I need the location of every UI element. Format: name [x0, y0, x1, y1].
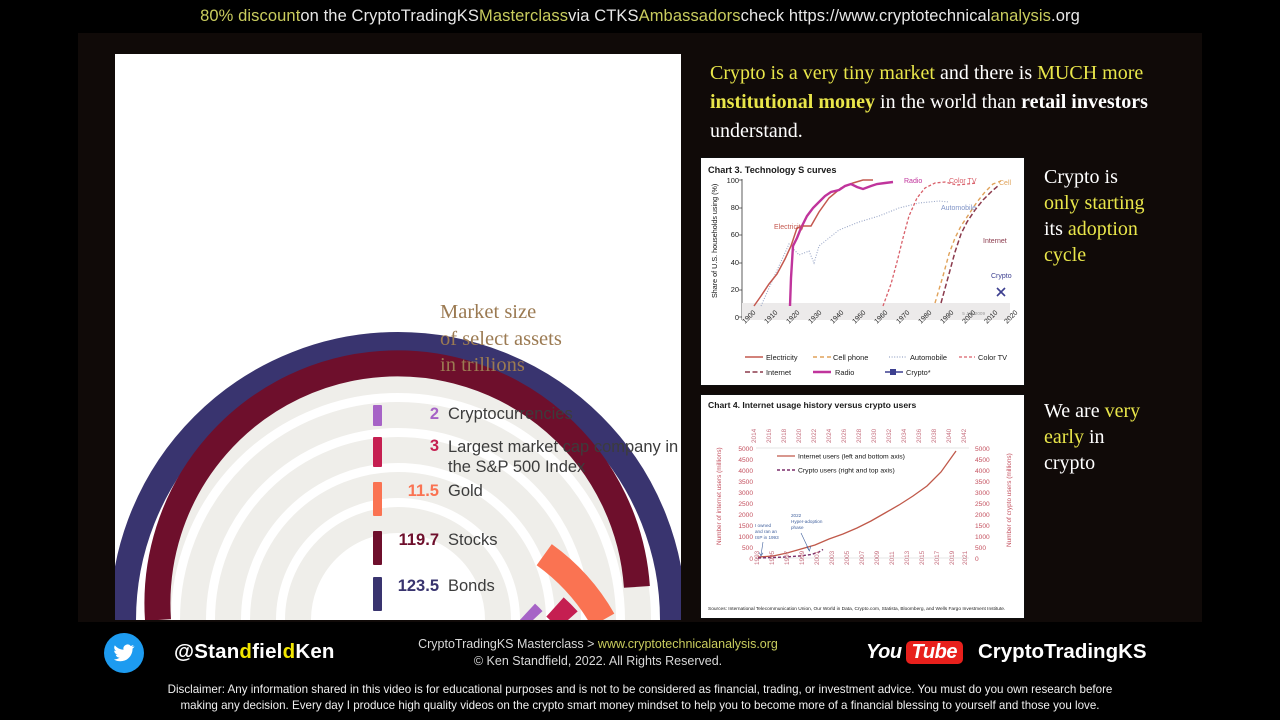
svg-text:2013: 2013 — [904, 550, 911, 565]
youtube-logo[interactable]: You Tube — [866, 641, 963, 664]
arc-title-line-3: in trillions — [440, 352, 670, 379]
ticker-discount: 80% discount — [200, 7, 300, 26]
arc-cryptocurrencies — [526, 613, 533, 620]
legend-label-bonds: Bonds — [448, 577, 495, 596]
svg-text:2000: 2000 — [738, 512, 753, 519]
handle-part-b: d — [239, 640, 252, 663]
disclaimer-line-2: making any decision. Every day I produce… — [6, 698, 1274, 714]
disclaimer-line-1: Disclaimer: Any information shared in th… — [6, 682, 1274, 698]
slide-canvas: Market size of select assets in trillion… — [78, 33, 1202, 684]
svg-text:500: 500 — [742, 545, 753, 552]
svg-text:0: 0 — [749, 556, 753, 563]
headline-part-3: MUCH — [1037, 62, 1097, 84]
svg-text:2024: 2024 — [826, 428, 833, 443]
svg-text:2030: 2030 — [871, 428, 878, 443]
svg-text:2016: 2016 — [766, 428, 773, 443]
chart3-legend-internet: Internet — [766, 368, 791, 377]
svg-text:2034: 2034 — [901, 428, 908, 443]
chart3-legend-electricity: Electricity — [766, 353, 798, 362]
handle-part-c: fiel — [252, 640, 282, 663]
credit-block: CryptoTradingKS Masterclass > www.crypto… — [368, 636, 828, 669]
legend-swatch-bonds — [373, 577, 382, 611]
chart3-label-automobile: Automobile — [941, 205, 976, 212]
svg-text:2026: 2026 — [841, 428, 848, 443]
svg-text:4500: 4500 — [738, 457, 753, 464]
svg-text:4000: 4000 — [738, 468, 753, 475]
legend-value-largest-company: 3 — [393, 437, 439, 456]
chart3-label-cell: Cell — [999, 180, 1012, 187]
handle-part-e: Ken — [295, 640, 334, 663]
chart3-label-color-tv: Color TV — [949, 178, 977, 185]
chart4-legend-internet: Internet users (left and bottom axis) — [798, 454, 905, 461]
svg-text:2005: 2005 — [844, 550, 851, 565]
side1-line-3: its adoption — [1044, 216, 1202, 242]
chart3-legend-radio: Radio — [835, 368, 854, 377]
chart3-legend-color-tv: Color TV — [978, 353, 1007, 362]
legend-item-stocks: 119.7 Stocks — [373, 531, 498, 565]
legend-label-cryptocurrencies: Cryptocurrencies — [448, 405, 573, 424]
youtube-tube-badge: Tube — [906, 641, 963, 664]
chart3-legend-cell-phone: Cell phone — [833, 353, 868, 362]
arc-title-line-1: Market size — [440, 299, 670, 326]
svg-text:2017: 2017 — [934, 550, 941, 565]
side2-line-1b: very — [1105, 400, 1141, 422]
legend-swatch-largest-company — [373, 437, 382, 467]
headline-part-8: understand. — [710, 120, 803, 142]
chart4-ylabel-left: Number of internet users (millions) — [716, 447, 723, 545]
headline-part-7: retail investors — [1021, 91, 1148, 113]
side2-line-2b: in — [1084, 426, 1105, 448]
chart3-label-radio: Radio — [904, 178, 922, 185]
ticker-masterclass: Masterclass — [479, 7, 568, 26]
headline-part-2: and there is — [935, 62, 1037, 84]
chart4-annotation-hyper-line2: Hyper-adoption — [791, 519, 823, 524]
svg-text:2011: 2011 — [889, 551, 896, 565]
chart3-label-crypto: Crypto — [991, 273, 1012, 280]
chart4-annotation-isp-line2: and ran an — [755, 529, 777, 534]
svg-text:2018: 2018 — [781, 428, 788, 443]
handle-part-d: d — [283, 640, 296, 663]
svg-text:3000: 3000 — [975, 490, 990, 497]
chart4-annotation-hyper-line3: phase — [791, 525, 804, 530]
chart4-title: Chart 4. Internet usage history versus c… — [708, 400, 916, 410]
handle-part-a: @Stan — [174, 640, 239, 663]
side2-line-3: crypto — [1044, 450, 1202, 476]
credit-line-2: © Ken Standfield, 2022. All Rights Reser… — [368, 653, 828, 670]
side1-line-3a: its — [1044, 218, 1068, 240]
chart3-technology-s-curves: Chart 3. Technology S curves 100 80 60 4… — [700, 157, 1025, 386]
chart4-annotation-hyper-line1: 2022 — [791, 513, 802, 518]
chart4-legend-crypto: Crypto users (right and top axis) — [798, 468, 895, 475]
chart3-ylabel: Share of U.S. households using (%) — [710, 184, 719, 298]
svg-text:1993: 1993 — [754, 550, 761, 565]
headline-part-1: Crypto is a very tiny market — [710, 62, 935, 84]
svg-text:5000: 5000 — [738, 446, 753, 453]
svg-text:4500: 4500 — [975, 457, 990, 464]
legend-value-stocks: 119.7 — [393, 531, 439, 550]
side1-line-3b: adoption — [1068, 218, 1138, 240]
side1-line-4: cycle — [1044, 242, 1202, 268]
svg-text:1500: 1500 — [738, 523, 753, 530]
svg-text:0: 0 — [735, 313, 739, 322]
svg-text:2500: 2500 — [738, 501, 753, 508]
svg-text:1995: 1995 — [769, 550, 776, 565]
credit-line-1: CryptoTradingKS Masterclass > www.crypto… — [368, 636, 828, 653]
headline-part-5: institutional money — [710, 91, 875, 113]
svg-text:1000: 1000 — [975, 534, 990, 541]
ticker-ambassadors: Ambassadors — [639, 7, 741, 26]
disclaimer-bar: Disclaimer: Any information shared in th… — [0, 678, 1280, 720]
svg-text:2014: 2014 — [751, 428, 758, 443]
market-size-arc-chart: Market size of select assets in trillion… — [115, 54, 681, 620]
svg-text:100: 100 — [727, 176, 739, 185]
youtube-you-text: You — [866, 641, 902, 664]
side1-line-1: Crypto is — [1044, 164, 1202, 190]
side2-line-1: We are very — [1044, 398, 1202, 424]
side2-line-1a: We are — [1044, 400, 1105, 422]
side1-line-2: only starting — [1044, 190, 1202, 216]
svg-text:2003: 2003 — [829, 550, 836, 565]
svg-text:2015: 2015 — [919, 550, 926, 565]
ticker-url-part-3: .org — [1051, 7, 1080, 26]
arc-chart-title: Market size of select assets in trillion… — [440, 299, 670, 379]
svg-text:2007: 2007 — [859, 550, 866, 565]
svg-text:1997: 1997 — [784, 550, 791, 565]
twitter-handle[interactable]: @StandfieldKen — [174, 640, 335, 664]
side2-line-2: early in — [1044, 424, 1202, 450]
legend-label-stocks: Stocks — [448, 531, 498, 550]
credit-website-link[interactable]: www.cryptotechnicalanalysis.org — [598, 637, 778, 651]
svg-text:1999: 1999 — [799, 550, 806, 565]
svg-text:3000: 3000 — [738, 490, 753, 497]
twitter-icon[interactable] — [104, 633, 144, 673]
legend-value-gold: 11.5 — [393, 482, 439, 501]
svg-text:2042: 2042 — [961, 428, 968, 443]
svg-text:2038: 2038 — [931, 428, 938, 443]
chart3-legend-automobile: Automobile — [910, 353, 947, 362]
svg-text:60: 60 — [731, 230, 739, 239]
chart4-ylabel-right: Number of crypto users (millions) — [1006, 453, 1013, 547]
legend-item-gold: 11.5 Gold — [373, 482, 483, 516]
chart4-annotation-isp-line3: ISP in 1993 — [755, 535, 779, 540]
svg-text:5000: 5000 — [975, 446, 990, 453]
legend-value-bonds: 123.5 — [393, 577, 439, 596]
chart3-label-internet: Internet — [983, 238, 1007, 245]
chart3-legend-crypto: Crypto* — [906, 368, 931, 377]
svg-text:2009: 2009 — [874, 550, 881, 565]
legend-swatch-cryptocurrencies — [373, 405, 382, 426]
svg-text:2020: 2020 — [796, 428, 803, 443]
svg-text:500: 500 — [975, 545, 986, 552]
svg-text:2001: 2001 — [814, 550, 821, 565]
ticker-text-1: on the CryptoTradingKS — [300, 7, 479, 26]
svg-text:2028: 2028 — [856, 428, 863, 443]
side2-line-2a: early — [1044, 426, 1084, 448]
legend-value-cryptocurrencies: 2 — [393, 405, 439, 424]
side-note-adoption: Crypto is only starting its adoption cyc… — [1044, 164, 1202, 268]
svg-text:2019: 2019 — [949, 550, 956, 565]
ticker-url-part-2: analysis — [991, 7, 1051, 26]
legend-item-bonds: 123.5 Bonds — [373, 577, 495, 611]
svg-text:1000: 1000 — [738, 534, 753, 541]
svg-text:2500: 2500 — [975, 501, 990, 508]
ticker-url-part-1: www.cryptotechnical — [839, 7, 990, 26]
headline-part-4: more — [1097, 62, 1143, 84]
chart4-annotation-isp-line1: I owned — [755, 523, 772, 528]
chart3-label-electricity: Electricity — [774, 224, 804, 231]
credit-masterclass: CryptoTradingKS Masterclass > — [418, 637, 598, 651]
headline-part-6: in the world than — [875, 91, 1021, 113]
headline-text: Crypto is a very tiny market and there i… — [710, 59, 1180, 146]
svg-text:20: 20 — [731, 285, 739, 294]
legend-item-cryptocurrencies: 2 Cryptocurrencies — [373, 405, 573, 426]
svg-text:3500: 3500 — [975, 479, 990, 486]
svg-text:2032: 2032 — [886, 428, 893, 443]
legend-swatch-stocks — [373, 531, 382, 565]
svg-text:3500: 3500 — [738, 479, 753, 486]
svg-text:2040: 2040 — [946, 428, 953, 443]
legend-label-largest-company: Largest market cap company in the S&P 50… — [448, 437, 681, 477]
svg-text:1500: 1500 — [975, 523, 990, 530]
ticker-text-3: check https:// — [741, 7, 840, 26]
svg-text:0: 0 — [975, 556, 979, 563]
ticker-text-2: via CTKS — [568, 7, 638, 26]
youtube-channel-name: CryptoTradingKS — [978, 640, 1147, 664]
left-letterbox — [0, 33, 78, 684]
chart4-sources: Sources: International Telecommunication… — [708, 606, 1005, 612]
svg-text:2022: 2022 — [811, 428, 818, 443]
svg-text:4000: 4000 — [975, 468, 990, 475]
arc-largest-company — [555, 607, 568, 620]
chart3-title: Chart 3. Technology S curves — [708, 165, 837, 175]
legend-swatch-gold — [373, 482, 382, 516]
chart4-internet-vs-crypto-users: Chart 4. Internet usage history versus c… — [700, 394, 1025, 619]
legend-item-largest-company: 3 Largest market cap company in the S&P … — [373, 437, 681, 477]
promo-ticker: 80% discount on the CryptoTradingKS Mast… — [0, 0, 1280, 33]
svg-text:2021: 2021 — [962, 550, 969, 565]
svg-text:80: 80 — [731, 203, 739, 212]
right-letterbox — [1202, 33, 1280, 684]
svg-text:40: 40 — [731, 258, 739, 267]
legend-label-gold: Gold — [448, 482, 483, 501]
arc-title-line-2: of select assets — [440, 326, 670, 353]
side-note-early: We are very early in crypto — [1044, 398, 1202, 476]
brand-bar: @StandfieldKen CryptoTradingKS Mastercla… — [78, 622, 1202, 684]
svg-text:2036: 2036 — [916, 428, 923, 443]
svg-text:2000: 2000 — [975, 512, 990, 519]
